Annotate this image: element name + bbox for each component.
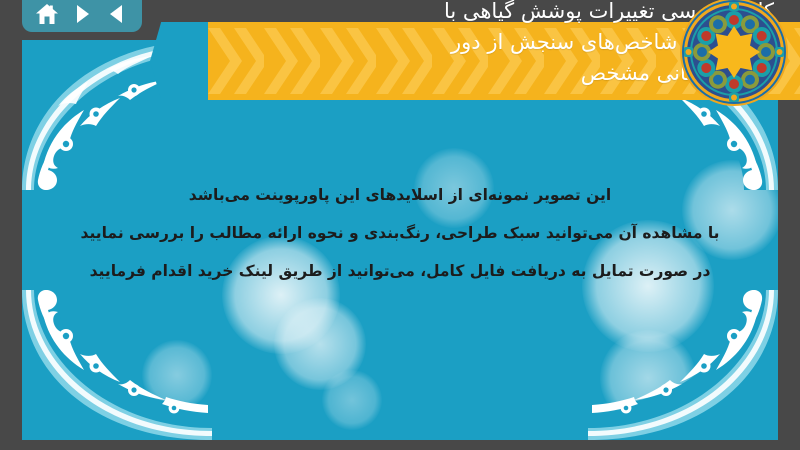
home-button[interactable] (33, 1, 61, 27)
arabesque-corner-bottom-left (22, 290, 212, 440)
arabesque-corner-bottom-right (588, 290, 778, 440)
body-line: این تصویر نمونه‌ای از اسلایدهای این پاور… (22, 176, 778, 214)
next-slide-button[interactable] (68, 1, 96, 27)
presentation-slide: این تصویر نمونه‌ای از اسلایدهای این پاور… (22, 40, 778, 440)
previous-slide-button[interactable] (103, 1, 131, 27)
body-line: با مشاهده آن می‌توانید سبک طراحی، رنگ‌بن… (22, 214, 778, 252)
bokeh-circle (600, 330, 696, 426)
slide-navigation-bar (22, 0, 142, 32)
bokeh-circle (142, 340, 212, 410)
slide-body-text: این تصویر نمونه‌ای از اسلایدهای این پاور… (22, 176, 778, 290)
home-icon (35, 3, 59, 26)
slide-viewer: این تصویر نمونه‌ای از اسلایدهای این پاور… (0, 0, 800, 450)
triangle-left-icon (106, 3, 128, 25)
bokeh-circle (274, 298, 366, 390)
body-line: در صورت تمایل به دریافت فایل کامل، می‌تو… (22, 252, 778, 290)
triangle-right-icon (71, 3, 93, 25)
banner-arrow-tip (150, 22, 212, 100)
persian-medallion-ornament (678, 0, 790, 108)
bokeh-circle (322, 370, 382, 430)
